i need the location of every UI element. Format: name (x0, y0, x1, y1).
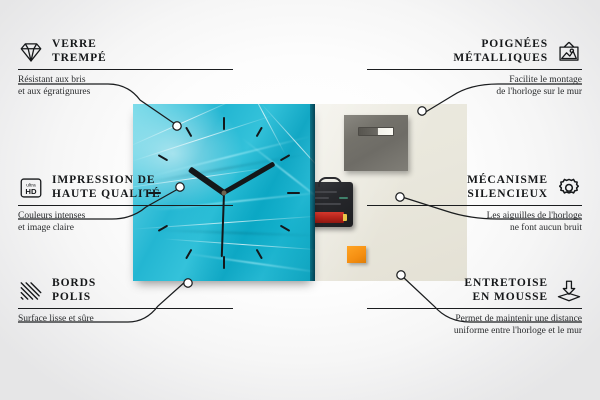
feature-heading: BORDS POLIS (18, 277, 233, 304)
divider (367, 205, 582, 206)
feature-heading: ultra HD IMPRESSION DE HAUTE QUALITÉ (18, 174, 233, 201)
polished-edges-icon (18, 279, 44, 303)
feature-heading: MÉCANISME SILENCIEUX (367, 174, 582, 201)
feature-title: ENTRETOISE EN MOUSSE (464, 277, 548, 304)
clock-tick (223, 117, 225, 130)
divider (18, 69, 233, 70)
feature-poignees-metalliques: POIGNÉES MÉTALLIQUES Facilite le montage… (367, 38, 582, 98)
clock-tick (185, 126, 192, 137)
ultra-hd-badge-icon: ultra HD (18, 176, 44, 200)
clock-tick (158, 154, 169, 161)
metal-hanging-bracket-photo (344, 115, 408, 171)
feature-title: POIGNÉES MÉTALLIQUES (453, 38, 548, 65)
feature-description: Facilite le montage de l'horloge sur le … (367, 74, 582, 98)
feature-heading: ENTRETOISE EN MOUSSE (367, 277, 582, 304)
feature-bords-polis: BORDS POLIS Surface lisse et sûre (18, 277, 233, 325)
feature-title: VERRE TREMPÉ (52, 38, 107, 65)
mechanism-detail (311, 203, 341, 205)
mechanism-detail (339, 197, 348, 199)
bracket-keyhole-slot (358, 127, 394, 136)
aa-battery (310, 212, 344, 223)
divider (18, 308, 233, 309)
battery-terminal (343, 214, 347, 221)
divider (367, 69, 582, 70)
infographic-canvas: VERRE TREMPÉ Résistant aux bris et aux é… (0, 0, 600, 400)
hanging-frame-icon (556, 40, 582, 64)
feature-title: IMPRESSION DE HAUTE QUALITÉ (52, 174, 161, 201)
feature-heading: POIGNÉES MÉTALLIQUES (367, 38, 582, 65)
divider (367, 308, 582, 309)
feature-description: Résistant aux bris et aux égratignures (18, 74, 233, 98)
clock-tick (223, 256, 225, 269)
clock-tick (256, 248, 263, 259)
feature-description: Les aiguilles de l'horloge ne font aucun… (367, 210, 582, 234)
clock-tick (280, 224, 291, 231)
foam-spacer-photo (347, 246, 366, 263)
divider (18, 205, 233, 206)
feature-verre-trempe: VERRE TREMPÉ Résistant aux bris et aux é… (18, 38, 233, 98)
clock-tick (256, 126, 263, 137)
feature-description: Permet de maintenir une distance uniform… (367, 313, 582, 337)
feature-title: BORDS POLIS (52, 277, 96, 304)
foam-spacer-icon (556, 279, 582, 303)
feature-mecanisme-silencieux: MÉCANISME SILENCIEUX Les aiguilles de l'… (367, 174, 582, 234)
diamond-icon (18, 40, 44, 64)
mechanism-hanger-loop (318, 177, 342, 187)
feature-entretoise-en-mousse: ENTRETOISE EN MOUSSE Permet de maintenir… (367, 277, 582, 337)
feature-heading: VERRE TREMPÉ (18, 38, 233, 65)
feature-title: MÉCANISME SILENCIEUX (467, 174, 548, 201)
clock-glass-edge (310, 104, 315, 281)
feature-description: Couleurs intenses et image claire (18, 210, 233, 234)
feature-impression-haute-qualite: ultra HD IMPRESSION DE HAUTE QUALITÉ Cou… (18, 174, 233, 234)
feature-description: Surface lisse et sûre (18, 313, 233, 325)
gear-icon (556, 176, 582, 200)
clock-tick (287, 192, 300, 194)
svg-text:HD: HD (25, 187, 37, 196)
